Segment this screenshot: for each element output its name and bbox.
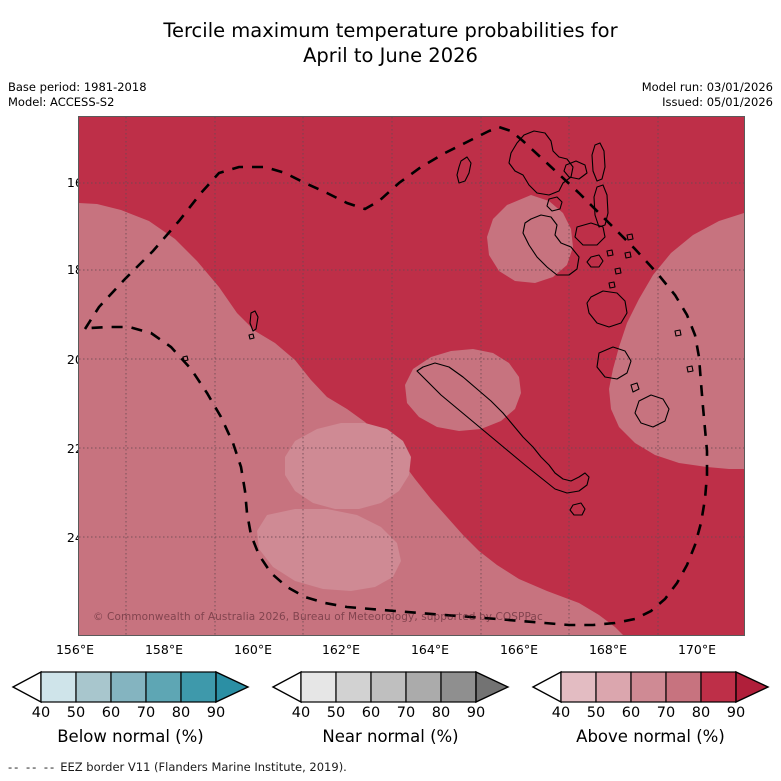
eez-footnote: -- -- --EEZ border V11 (Flanders Marine … — [8, 760, 347, 774]
cbar-seg-80-90-above — [701, 672, 736, 702]
cbar-tick-50-above: 50 — [579, 705, 613, 721]
cbar-tick-70-near: 70 — [389, 705, 423, 721]
cbar-seg-60-70-above — [631, 672, 666, 702]
colorbar-above-normal-caption: Above normal (%) — [528, 727, 773, 746]
model-text: Model: ACCESS-S2 — [8, 95, 147, 110]
cbar-seg-60-70-near — [371, 672, 406, 702]
x-tick-168e: 168°E — [568, 642, 648, 657]
colorbar-above-normal-ticks: 40 50 60 70 80 90 — [528, 705, 773, 725]
cbar-cap-high-below — [216, 672, 248, 702]
cbar-seg-70-80-above — [666, 672, 701, 702]
probability-map: © Commonwealth of Australia 2026, Bureau… — [78, 116, 745, 636]
cbar-tick-70-below: 70 — [129, 705, 163, 721]
cbar-seg-40-50-near — [301, 672, 336, 702]
cbar-tick-60-below: 60 — [94, 705, 128, 721]
cbar-cap-low-above — [533, 672, 561, 702]
cbar-tick-90-below: 90 — [199, 705, 233, 721]
page-title: Tercile maximum temperature probabilitie… — [0, 18, 781, 68]
forecast-map-page: Tercile maximum temperature probabilitie… — [0, 0, 781, 781]
colorbar-near-normal-swatches[interactable] — [268, 670, 513, 704]
metadata-right: Model run: 03/01/2026 Issued: 05/01/2026 — [642, 80, 773, 110]
colorbar-below-normal-ticks: 40 50 60 70 80 90 — [8, 705, 253, 725]
cbar-seg-50-60-near — [336, 672, 371, 702]
cbar-seg-50-60-below — [76, 672, 111, 702]
cbar-tick-80-below: 80 — [164, 705, 198, 721]
cbar-seg-40-50-below — [41, 672, 76, 702]
cbar-tick-60-above: 60 — [614, 705, 648, 721]
x-tick-160e: 160°E — [213, 642, 293, 657]
map-copyright: © Commonwealth of Australia 2026, Bureau… — [93, 611, 543, 623]
cbar-cap-high-near — [476, 672, 508, 702]
cbar-tick-70-above: 70 — [649, 705, 683, 721]
colorbar-near-normal: 40 50 60 70 80 90 Near normal (%) — [268, 670, 513, 746]
cbar-tick-60-near: 60 — [354, 705, 388, 721]
x-tick-162e: 162°E — [301, 642, 381, 657]
x-tick-156e: 156°E — [35, 642, 115, 657]
cbar-seg-70-80-near — [406, 672, 441, 702]
colorbar-below-normal-caption: Below normal (%) — [8, 727, 253, 746]
eez-dash-sample: -- -- -- — [8, 760, 56, 774]
colorbar-below-normal: 40 50 60 70 80 90 Below normal (%) — [8, 670, 253, 746]
cbar-seg-50-60-above — [596, 672, 631, 702]
x-tick-164e: 164°E — [390, 642, 470, 657]
cbar-tick-50-near: 50 — [319, 705, 353, 721]
metadata-left: Base period: 1981-2018 Model: ACCESS-S2 — [8, 80, 147, 110]
cbar-seg-80-90-near — [441, 672, 476, 702]
colorbar-below-normal-swatches[interactable] — [8, 670, 253, 704]
cbar-tick-40-above: 40 — [544, 705, 578, 721]
x-tick-158e: 158°E — [124, 642, 204, 657]
map-canvas — [79, 117, 744, 635]
cbar-tick-40-below: 40 — [24, 705, 58, 721]
colorbar-near-normal-caption: Near normal (%) — [268, 727, 513, 746]
eez-footnote-text: EEZ border V11 (Flanders Marine Institut… — [60, 760, 347, 774]
colorbar-above-normal: 40 50 60 70 80 90 Above normal (%) — [528, 670, 773, 746]
cbar-seg-70-80-below — [146, 672, 181, 702]
model-run-text: Model run: 03/01/2026 — [642, 80, 773, 95]
cbar-tick-80-above: 80 — [684, 705, 718, 721]
cbar-tick-90-near: 90 — [459, 705, 493, 721]
x-tick-166e: 166°E — [479, 642, 559, 657]
cbar-tick-50-below: 50 — [59, 705, 93, 721]
cbar-seg-40-50-above — [561, 672, 596, 702]
x-tick-170e: 170°E — [657, 642, 737, 657]
cbar-tick-80-near: 80 — [424, 705, 458, 721]
colorbar-above-normal-swatches[interactable] — [528, 670, 773, 704]
colorbar-near-normal-ticks: 40 50 60 70 80 90 — [268, 705, 513, 725]
cbar-tick-90-above: 90 — [719, 705, 753, 721]
cbar-tick-40-near: 40 — [284, 705, 318, 721]
cbar-seg-80-90-below — [181, 672, 216, 702]
cbar-cap-low-near — [273, 672, 301, 702]
issued-text: Issued: 05/01/2026 — [642, 95, 773, 110]
base-period-text: Base period: 1981-2018 — [8, 80, 147, 95]
cbar-seg-60-70-below — [111, 672, 146, 702]
cbar-cap-high-above — [736, 672, 768, 702]
cbar-cap-low-below — [13, 672, 41, 702]
